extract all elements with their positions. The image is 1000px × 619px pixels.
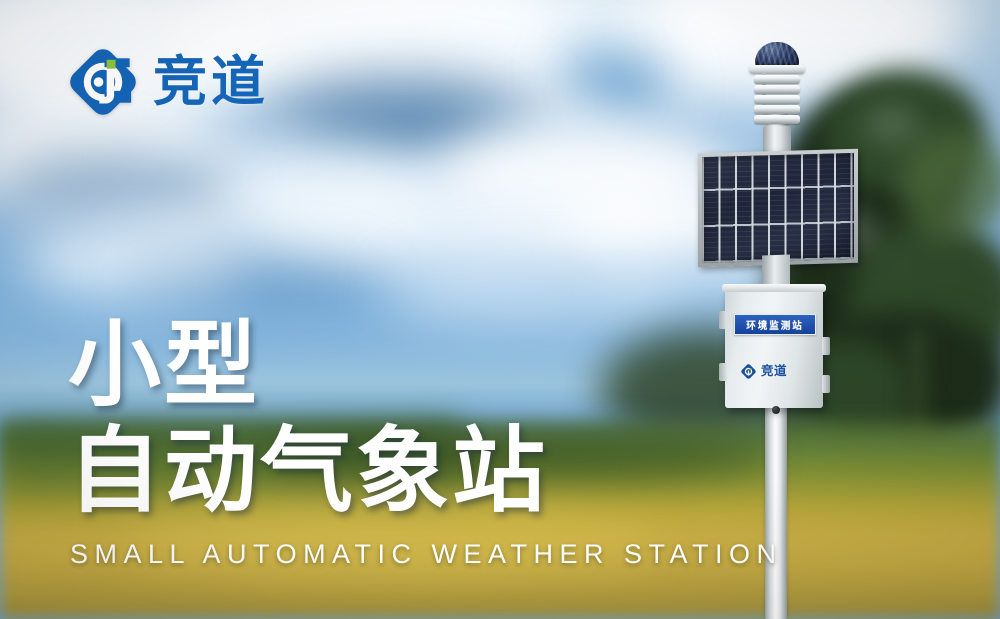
mounting-pole-lower: [766, 400, 787, 619]
headline-line-1: 小型: [68, 312, 548, 418]
enclosure-wordmark: 竞道: [761, 365, 787, 378]
enclosure-banner: 环境监测站: [734, 314, 816, 335]
sensor-cap: [749, 65, 805, 74]
brand-wordmark: 竞道: [153, 55, 269, 109]
radiation-shield-icon: [754, 75, 800, 129]
headline-line-2: 自动气象站: [68, 418, 548, 524]
banner-image: 环境监测站 竞道: [0, 0, 1000, 619]
ultrasonic-weather-sensor-icon: [741, 42, 813, 164]
brand-lockup: 竞道: [66, 45, 269, 119]
enclosure-banner-label: 环境监测站: [746, 317, 804, 332]
solar-panel-icon: [698, 149, 858, 267]
page-subtitle: SMALL AUTOMATIC WEATHER STATION: [70, 539, 783, 570]
page-title: 小型 自动气象站: [68, 312, 548, 524]
jingdao-diamond-logo-icon: [66, 45, 140, 119]
pole-screw: [772, 406, 780, 414]
enclosure-box: 环境监测站 竞道: [725, 289, 823, 408]
enclosure-brand-logo: 竞道: [740, 361, 810, 381]
jingdao-diamond-logo-icon: [740, 363, 757, 380]
